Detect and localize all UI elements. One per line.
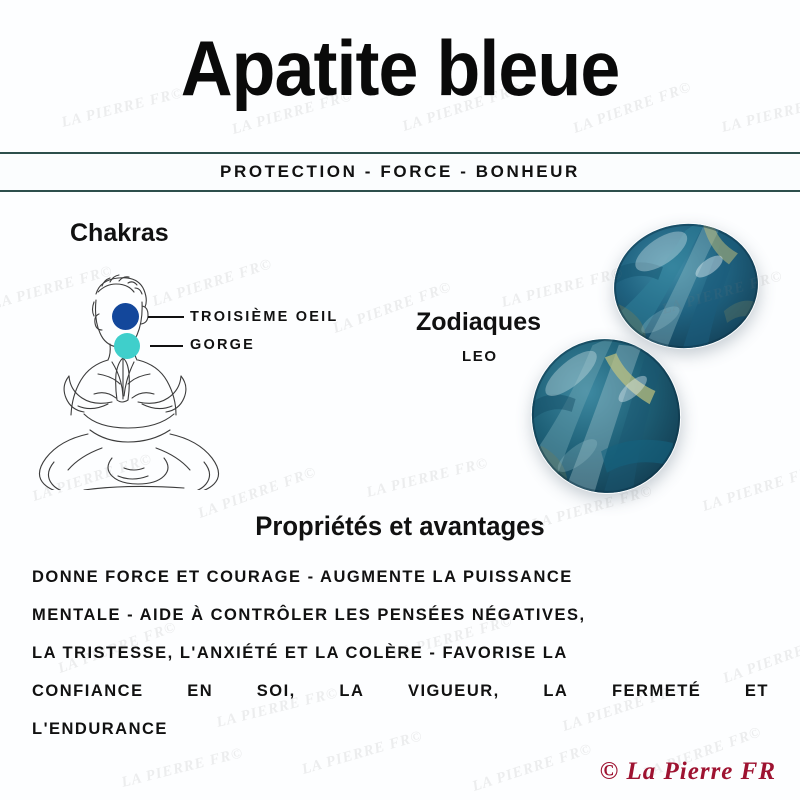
watermark-text: LA PIERRE FR© bbox=[500, 265, 625, 312]
chakra-label-third-eye: TROISIÈME OEIL bbox=[190, 309, 338, 325]
chakra-dot-throat bbox=[114, 333, 140, 359]
watermark-text: LA PIERRE FR© bbox=[470, 741, 594, 796]
tagline-bar: PROTECTION - FORCE - BONHEUR bbox=[0, 152, 800, 192]
properties-word: FERMETÉ bbox=[612, 672, 701, 710]
tagline-text: PROTECTION - FORCE - BONHEUR bbox=[220, 162, 580, 182]
properties-line: LA TRISTESSE, L'ANXIÉTÉ ET LA COLÈRE - F… bbox=[32, 634, 769, 672]
chakra-dot-third-eye bbox=[112, 303, 139, 330]
properties-word: LA bbox=[543, 672, 568, 710]
properties-heading: Propriétés et avantages bbox=[20, 511, 780, 542]
zodiaques-value: LEO bbox=[462, 348, 498, 365]
gemstone-info-card: Apatite bleue PROTECTION - FORCE - BONHE… bbox=[0, 0, 800, 800]
chakra-label-throat: GORGE bbox=[190, 337, 255, 353]
chakra-leader-line-third-eye bbox=[148, 316, 184, 318]
properties-word: LA bbox=[339, 672, 364, 710]
properties-body: DONNE FORCE ET COURAGE - AUGMENTE LA PUI… bbox=[32, 558, 769, 748]
chakra-leader-line-throat bbox=[150, 345, 183, 347]
apatite-stone-bottom bbox=[519, 326, 694, 506]
watermark-text: LA PIERRE FR© bbox=[120, 745, 245, 792]
properties-line: CONFIANCE EN SOI, LA VIGUEUR, LA FERMETÉ… bbox=[32, 672, 769, 710]
zodiaques-heading: Zodiaques bbox=[416, 308, 541, 337]
page-title: Apatite bleue bbox=[32, 26, 768, 110]
properties-word: ET bbox=[745, 672, 769, 710]
properties-word: VIGUEUR, bbox=[408, 672, 500, 710]
watermark-text: LA PIERRE FR© bbox=[700, 461, 800, 516]
properties-line: DONNE FORCE ET COURAGE - AUGMENTE LA PUI… bbox=[32, 558, 769, 596]
watermark-text: LA PIERRE FR© bbox=[365, 455, 490, 502]
properties-line: MENTALE - AIDE À CONTRÔLER LES PENSÉES N… bbox=[32, 596, 769, 634]
properties-word: EN bbox=[187, 672, 213, 710]
copyright-signature: © La Pierre FR bbox=[600, 758, 776, 786]
meditating-figure-illustration bbox=[28, 262, 250, 490]
properties-line: L'ENDURANCE bbox=[32, 710, 769, 748]
properties-word: SOI, bbox=[257, 672, 296, 710]
chakras-heading: Chakras bbox=[70, 219, 169, 248]
properties-word: CONFIANCE bbox=[32, 672, 144, 710]
